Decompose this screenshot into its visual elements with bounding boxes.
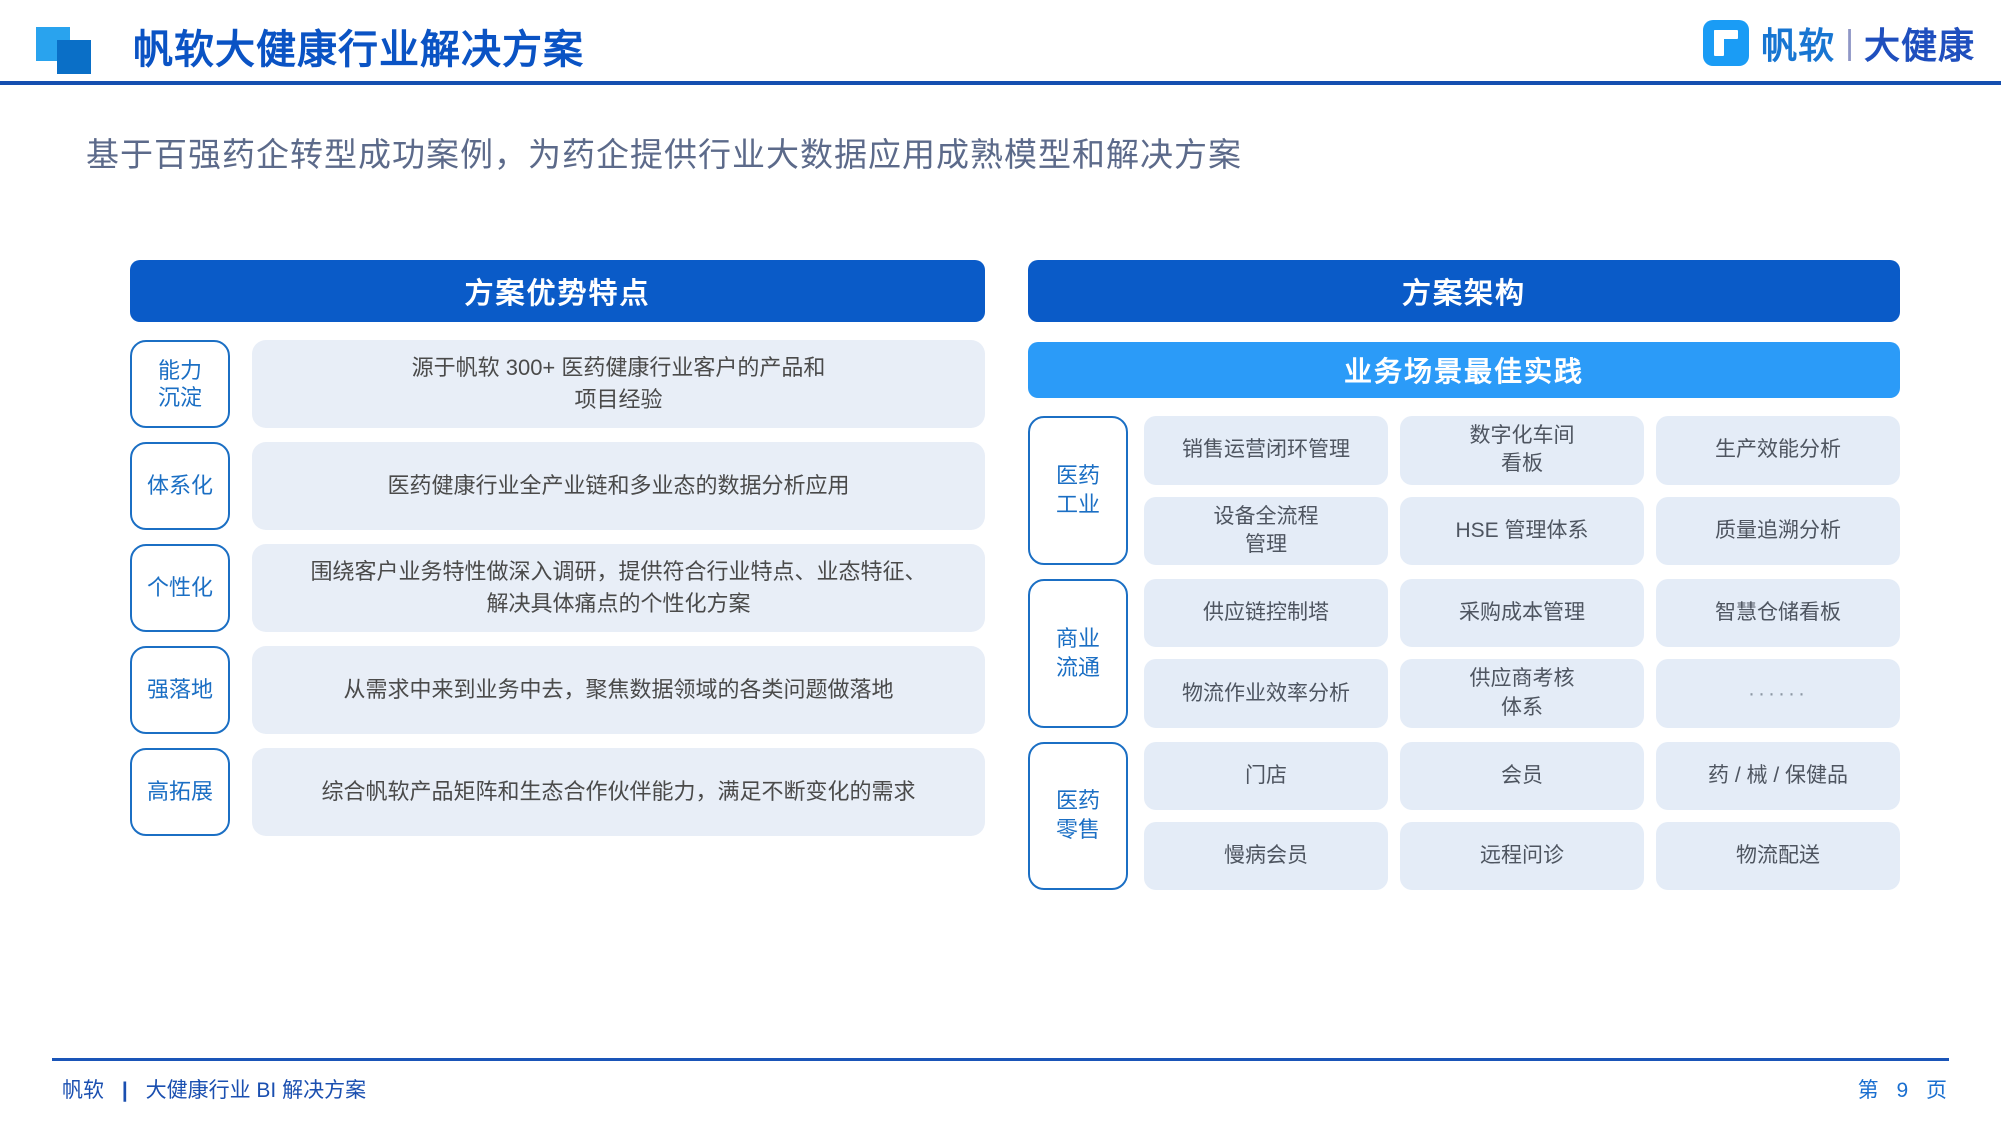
footer-left: 帆软 | 大健康行业 BI 解决方案 (62, 1074, 366, 1104)
page-title: 帆软大健康行业解决方案 (133, 17, 584, 75)
footer-page-number: 第 9 页 (1858, 1074, 1953, 1104)
slide-header: 帆软大健康行业解决方案 帆软 | 大健康 (0, 0, 2001, 84)
architecture-cell[interactable]: 远程问诊 (1400, 822, 1644, 890)
footer-brand: 帆软 (62, 1079, 104, 1102)
brand-name: 帆软 (1761, 17, 1835, 69)
architecture-group: 医药零售门店会员药 / 械 / 保健品慢病会员远程问诊物流配送 (1028, 742, 1900, 890)
panel-architecture: 方案架构 业务场景最佳实践 医药工业销售运营闭环管理数字化车间看板生产效能分析设… (1028, 260, 1900, 904)
panel-architecture-header: 方案架构 (1028, 260, 1900, 322)
architecture-cell[interactable]: 门店 (1144, 742, 1388, 810)
architecture-cell[interactable]: 慢病会员 (1144, 822, 1388, 890)
brand-logo: 帆软 | 大健康 (1703, 18, 1975, 68)
feature-tag-line: 高拓展 (147, 778, 213, 806)
architecture-group-tag-line: 医药 (1056, 787, 1100, 816)
architecture-cell-grid: 销售运营闭环管理数字化车间看板生产效能分析设备全流程管理HSE 管理体系质量追溯… (1144, 416, 1900, 565)
architecture-group-tag-line: 流通 (1056, 654, 1100, 683)
architecture-group-tag-line: 商业 (1056, 625, 1100, 654)
feature-body: 源于帆软 300+ 医药健康行业客户的产品和项目经验 (252, 340, 985, 428)
feature-tag: 能力沉淀 (130, 340, 230, 428)
feature-tag-line: 沉淀 (158, 384, 202, 412)
architecture-cell[interactable]: ······ (1656, 659, 1900, 728)
architecture-cell[interactable]: 智慧仓储看板 (1656, 579, 1900, 647)
feature-list: 能力沉淀源于帆软 300+ 医药健康行业客户的产品和项目经验体系化医药健康行业全… (130, 340, 985, 836)
feature-tag: 强落地 (130, 646, 230, 734)
architecture-group-tag: 医药零售 (1028, 742, 1128, 890)
panel-architecture-subheader: 业务场景最佳实践 (1028, 342, 1900, 398)
architecture-groups: 医药工业销售运营闭环管理数字化车间看板生产效能分析设备全流程管理HSE 管理体系… (1028, 416, 1900, 890)
architecture-group-tag-line: 零售 (1056, 816, 1100, 845)
feature-tag-line: 能力 (158, 357, 202, 385)
feature-row: 高拓展综合帆软产品矩阵和生态合作伙伴能力，满足不断变化的需求 (130, 748, 985, 836)
architecture-cell[interactable]: 质量追溯分析 (1656, 497, 1900, 566)
architecture-cell[interactable]: 生产效能分析 (1656, 416, 1900, 485)
architecture-cell-grid: 供应链控制塔采购成本管理智慧仓储看板物流作业效率分析供应商考核体系······ (1144, 579, 1900, 728)
architecture-cell[interactable]: 供应商考核体系 (1400, 659, 1644, 728)
feature-tag-line: 个性化 (147, 574, 213, 602)
header-divider (0, 81, 2001, 85)
slide-subtitle: 基于百强药企转型成功案例，为药企提供行业大数据应用成熟模型和解决方案 (86, 128, 1242, 176)
feature-tag-line: 强落地 (147, 676, 213, 704)
architecture-cell-grid: 门店会员药 / 械 / 保健品慢病会员远程问诊物流配送 (1144, 742, 1900, 890)
feature-row: 个性化围绕客户业务特性做深入调研，提供符合行业特点、业态特征、解决具体痛点的个性… (130, 544, 985, 632)
feature-tag: 体系化 (130, 442, 230, 530)
architecture-group-tag-line: 医药 (1056, 462, 1100, 491)
feature-row: 强落地从需求中来到业务中去，聚焦数据领域的各类问题做落地 (130, 646, 985, 734)
architecture-group: 医药工业销售运营闭环管理数字化车间看板生产效能分析设备全流程管理HSE 管理体系… (1028, 416, 1900, 565)
two-squares-logo-icon (36, 27, 98, 73)
feature-body: 从需求中来到业务中去，聚焦数据领域的各类问题做落地 (252, 646, 985, 734)
architecture-cell[interactable]: 数字化车间看板 (1400, 416, 1644, 485)
footer-divider (52, 1058, 1949, 1061)
footer-doc-title: 大健康行业 BI 解决方案 (146, 1079, 367, 1102)
architecture-group-tag: 商业流通 (1028, 579, 1128, 728)
feature-tag: 高拓展 (130, 748, 230, 836)
architecture-cell[interactable]: 销售运营闭环管理 (1144, 416, 1388, 485)
footer-separator: | (122, 1079, 128, 1102)
architecture-cell[interactable]: HSE 管理体系 (1400, 497, 1644, 566)
feature-tag: 个性化 (130, 544, 230, 632)
feature-row: 能力沉淀源于帆软 300+ 医药健康行业客户的产品和项目经验 (130, 340, 985, 428)
architecture-cell[interactable]: 药 / 械 / 保健品 (1656, 742, 1900, 810)
brand-sub-label: 大健康 (1864, 17, 1975, 69)
architecture-cell[interactable]: 物流作业效率分析 (1144, 659, 1388, 728)
architecture-cell[interactable]: 供应链控制塔 (1144, 579, 1388, 647)
fanruan-f-icon (1703, 20, 1749, 66)
architecture-cell[interactable]: 设备全流程管理 (1144, 497, 1388, 566)
panel-advantages: 方案优势特点 能力沉淀源于帆软 300+ 医药健康行业客户的产品和项目经验体系化… (130, 260, 985, 850)
feature-body: 围绕客户业务特性做深入调研，提供符合行业特点、业态特征、解决具体痛点的个性化方案 (252, 544, 985, 632)
brand-separator: | (1845, 24, 1854, 63)
architecture-cell[interactable]: 采购成本管理 (1400, 579, 1644, 647)
panel-advantages-header: 方案优势特点 (130, 260, 985, 322)
architecture-cell[interactable]: 物流配送 (1656, 822, 1900, 890)
feature-body: 综合帆软产品矩阵和生态合作伙伴能力，满足不断变化的需求 (252, 748, 985, 836)
architecture-group: 商业流通供应链控制塔采购成本管理智慧仓储看板物流作业效率分析供应商考核体系···… (1028, 579, 1900, 728)
feature-tag-line: 体系化 (147, 472, 213, 500)
architecture-group-tag-line: 工业 (1056, 491, 1100, 520)
slide-root: 帆软大健康行业解决方案 帆软 | 大健康 基于百强药企转型成功案例，为药企提供行… (0, 0, 2001, 1125)
logo-square-front (57, 40, 91, 74)
architecture-cell[interactable]: 会员 (1400, 742, 1644, 810)
architecture-group-tag: 医药工业 (1028, 416, 1128, 565)
feature-body: 医药健康行业全产业链和多业态的数据分析应用 (252, 442, 985, 530)
feature-row: 体系化医药健康行业全产业链和多业态的数据分析应用 (130, 442, 985, 530)
